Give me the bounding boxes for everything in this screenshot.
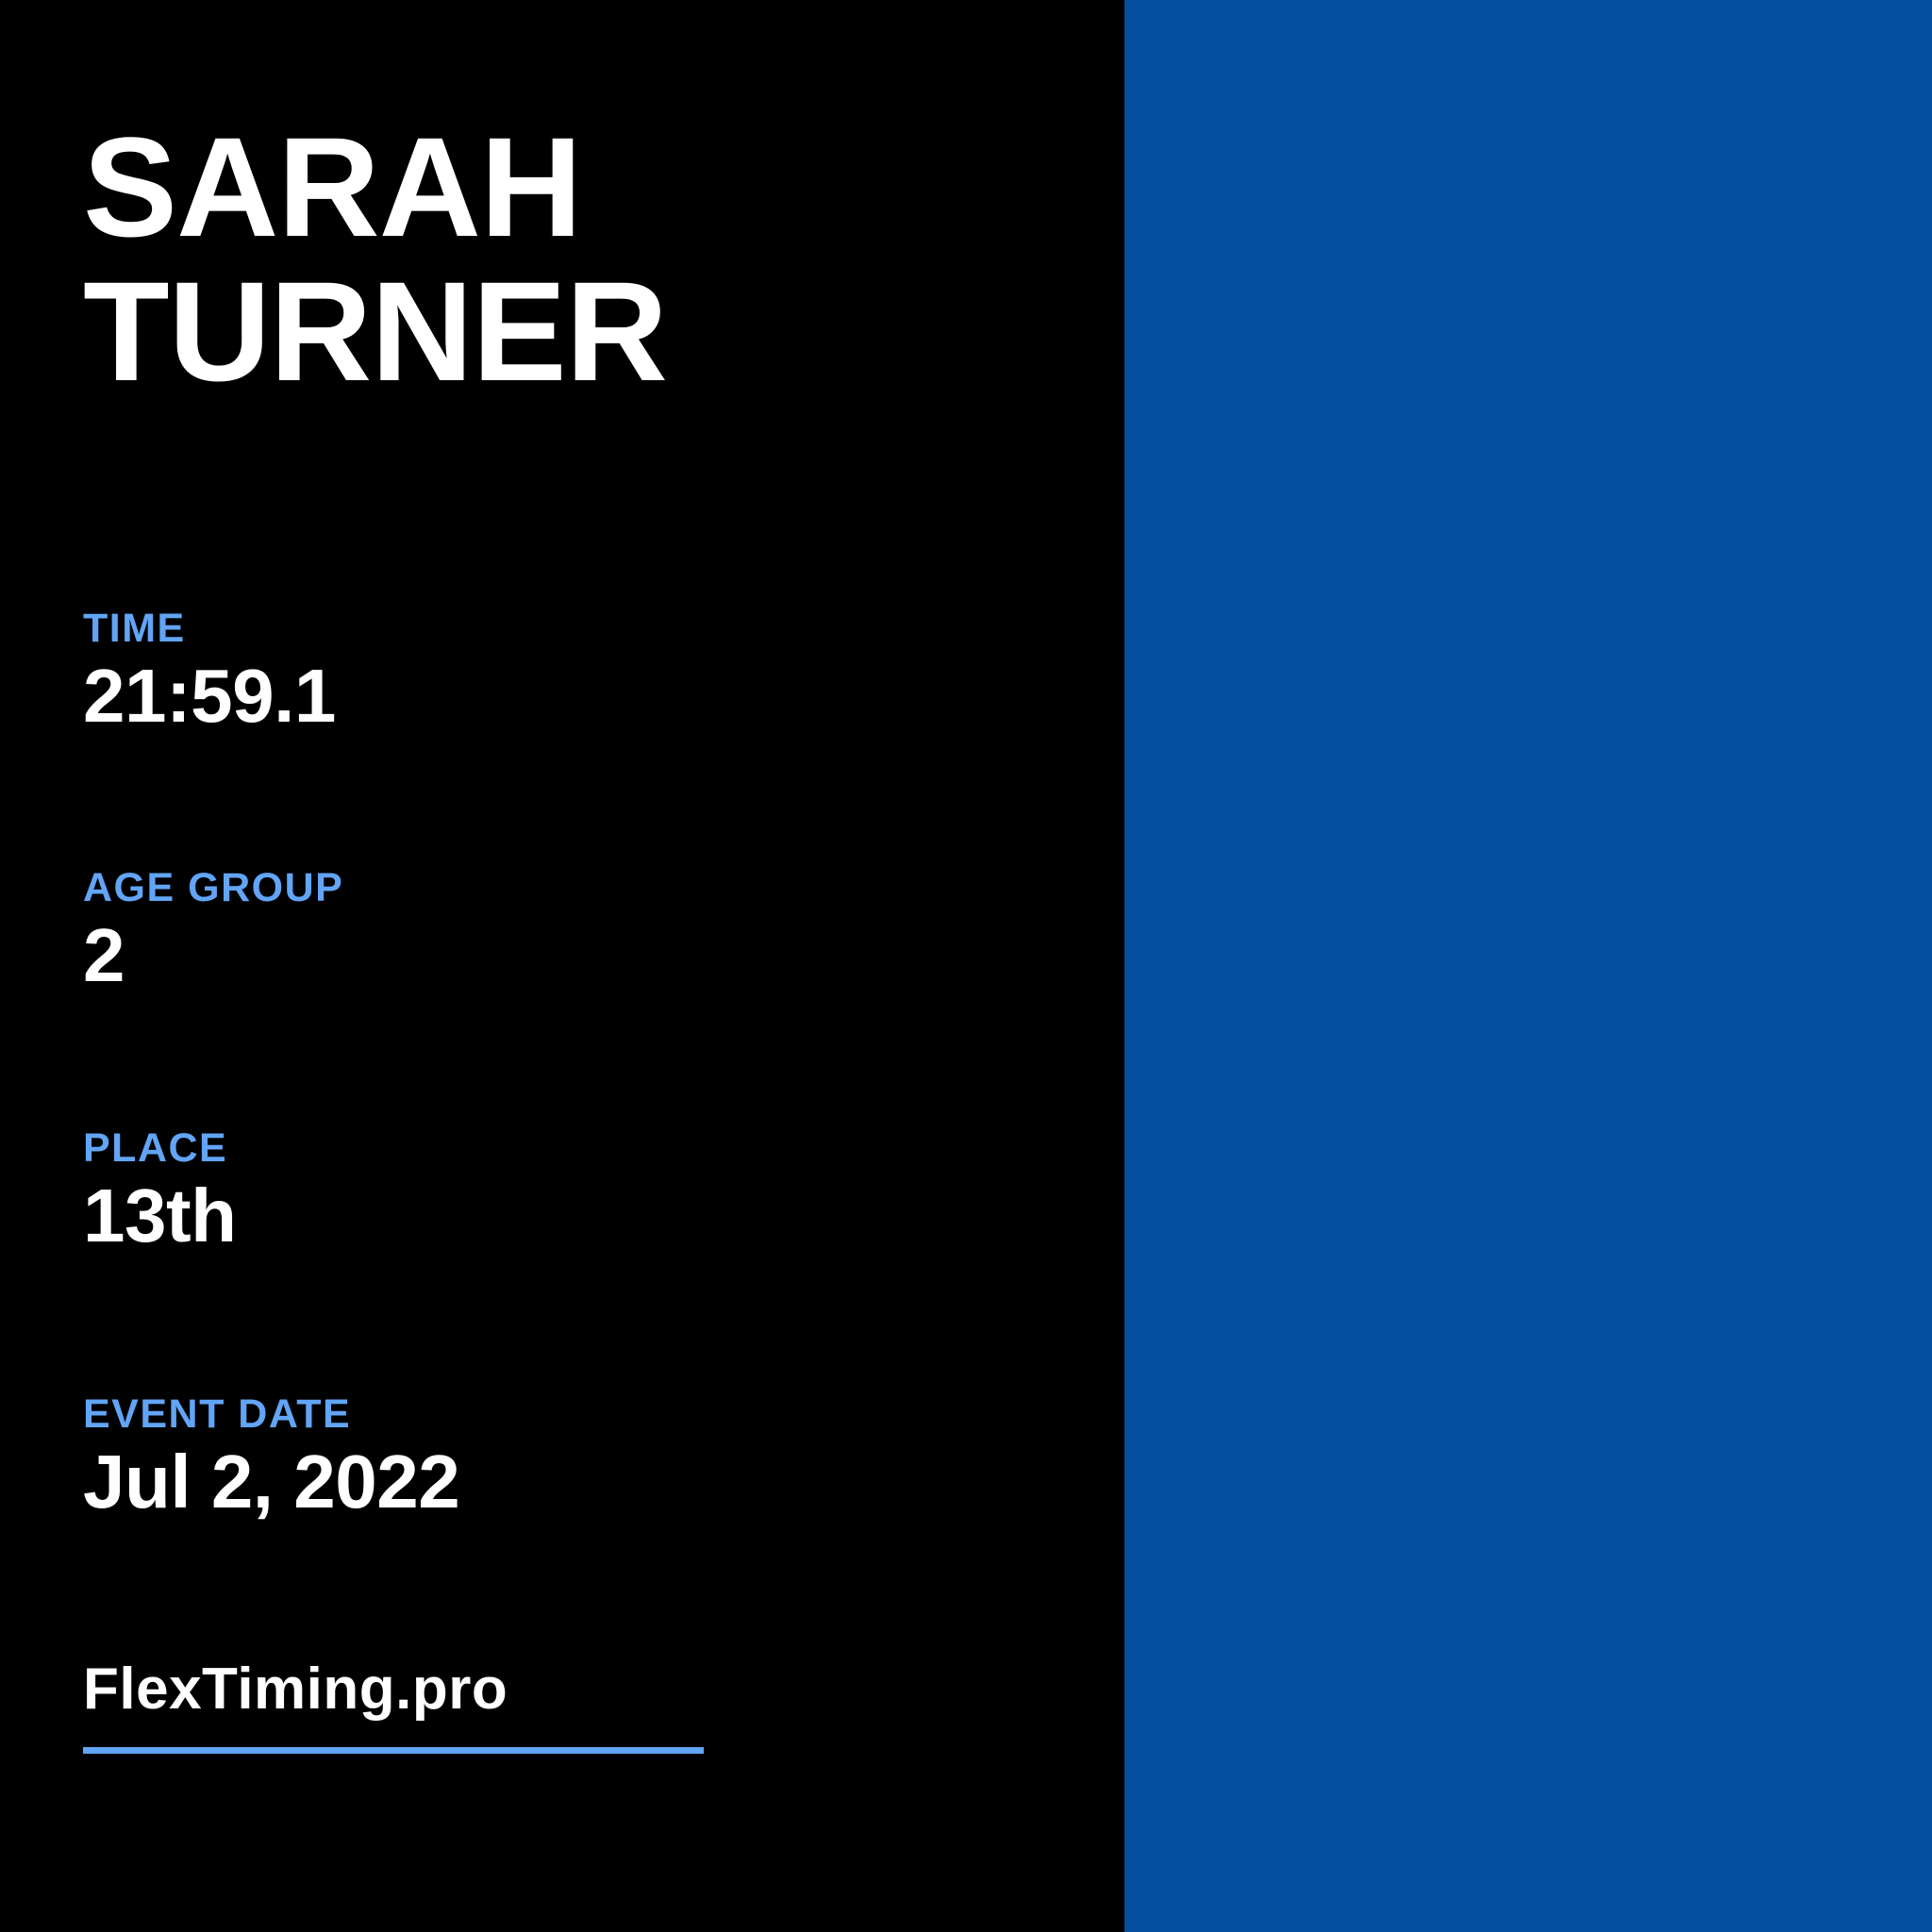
stat-time: TIME 21:59.1	[83, 608, 336, 734]
brand-wordmark: FlexTiming.pro	[83, 1660, 706, 1719]
right-medal-panel	[1124, 0, 1932, 1932]
stat-age-group-label: AGE GROUP	[83, 868, 343, 908]
athlete-name: SARAH TURNER	[83, 115, 1064, 404]
brand-underline	[83, 1747, 704, 1754]
stat-age-group-value: 2	[83, 918, 343, 993]
stat-place: PLACE 13th	[83, 1128, 237, 1254]
brand-logo: FlexTiming.pro	[83, 1660, 706, 1754]
left-info-panel: SARAH TURNER TIME 21:59.1 AGE GROUP 2 PL…	[0, 0, 1124, 1932]
stat-event-date-value: Jul 2, 2022	[83, 1444, 459, 1520]
result-card: SARAH TURNER TIME 21:59.1 AGE GROUP 2 PL…	[0, 0, 1932, 1932]
stat-event-date: EVENT DATE Jul 2, 2022	[83, 1394, 459, 1520]
stat-event-date-label: EVENT DATE	[83, 1394, 459, 1435]
stat-time-label: TIME	[83, 608, 336, 649]
stat-age-group: AGE GROUP 2	[83, 868, 343, 993]
athlete-first-name: SARAH	[83, 115, 1064, 259]
stat-place-label: PLACE	[83, 1128, 237, 1169]
athlete-last-name: TURNER	[83, 259, 1064, 404]
stat-place-value: 13th	[83, 1178, 237, 1254]
stat-time-value: 21:59.1	[83, 658, 336, 734]
